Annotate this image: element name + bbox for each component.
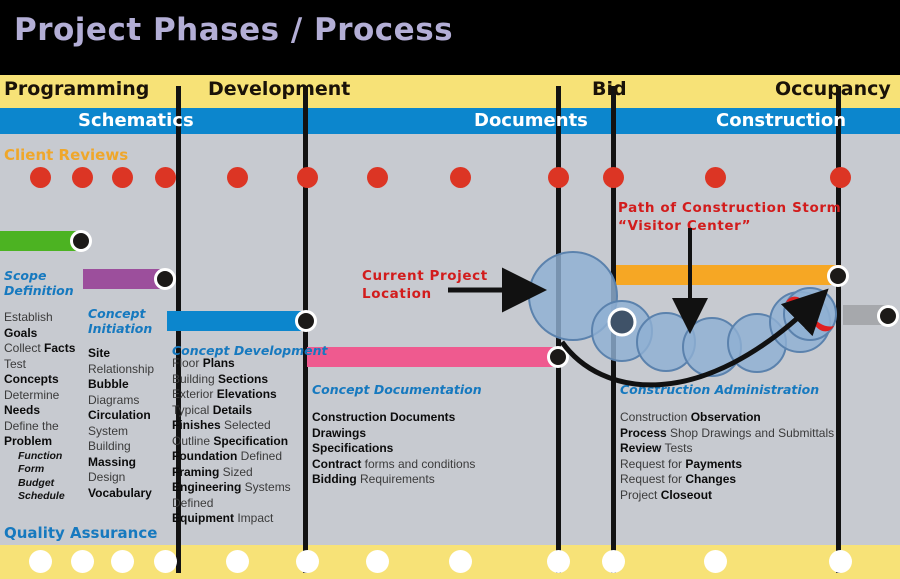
milestone-scope-definition-end — [70, 230, 92, 252]
title-bar: Project Phases / Process — [0, 0, 900, 75]
column-item: Concepts — [4, 372, 75, 388]
column-item: Building Sections — [172, 372, 291, 388]
column-subitem: Schedule — [18, 490, 75, 504]
quality-assurance-dot-11 — [704, 550, 727, 573]
column-item: Equipment Impact — [172, 511, 291, 527]
column-item: Needs — [4, 403, 75, 419]
column-heading-construction-administration: Construction Administration — [620, 382, 819, 397]
column-heading-concept-initiation: Concept Initiation — [88, 306, 152, 336]
column-item: Construction Documents — [312, 410, 475, 426]
column-item: Defined — [172, 496, 291, 512]
quality-assurance-label: Quality Assurance — [4, 524, 157, 542]
column-subitem: Function — [18, 450, 75, 464]
subphase-label-documents: Documents — [474, 110, 588, 131]
column-item: Determine — [4, 388, 75, 404]
column-item: System — [88, 424, 154, 440]
milestone-occupancy-end — [877, 305, 899, 327]
column-item: Building — [88, 439, 154, 455]
column-item: Construction Observation — [620, 410, 834, 426]
column-body-concept-documentation: Construction DocumentsDrawingsSpecificat… — [312, 410, 475, 488]
quality-assurance-dot-7 — [366, 550, 389, 573]
bar-concept-development — [167, 311, 307, 331]
phase-label-bid: Bid — [592, 78, 627, 100]
timeline-rule-5 — [836, 86, 841, 573]
subphase-label-schematics: Schematics — [78, 110, 194, 131]
client-review-dot-3 — [112, 167, 133, 188]
client-review-dot-12 — [830, 167, 851, 188]
milestone-concept-documentation-end — [547, 346, 569, 368]
column-item: Process Shop Drawings and Submittals — [620, 426, 834, 442]
column-item: Outline Specification — [172, 434, 291, 450]
column-item: Define the — [4, 419, 75, 435]
column-item: Relationship — [88, 362, 154, 378]
column-body-scope-definition: EstablishGoalsCollect FactsTestConceptsD… — [4, 310, 75, 504]
client-review-dot-6 — [297, 167, 318, 188]
column-item: Problem — [4, 434, 75, 450]
column-heading-concept-documentation: Concept Documentation — [312, 382, 482, 397]
column-item: Drawings — [312, 426, 475, 442]
column-body-construction-administration: Construction ObservationProcess Shop Dra… — [620, 410, 834, 503]
quality-assurance-dot-12 — [829, 550, 852, 573]
column-item: Massing — [88, 455, 154, 471]
column-item: Engineering Systems — [172, 480, 291, 496]
client-review-dot-5 — [227, 167, 248, 188]
milestone-concept-development-end — [295, 310, 317, 332]
project-phases-diagram: Project Phases / Process ProgrammingDeve… — [0, 0, 900, 579]
column-item: Collect Facts — [4, 341, 75, 357]
column-body-concept-development: Floor PlansBuilding SectionsExterior Ele… — [172, 356, 291, 527]
milestone-concept-initiation-end — [154, 268, 176, 290]
quality-assurance-dot-9 — [547, 550, 570, 573]
subphase-label-construction: Construction — [716, 110, 846, 131]
quality-assurance-dot-5 — [226, 550, 249, 573]
column-item: Diagrams — [88, 393, 154, 409]
column-item: Framing Sized — [172, 465, 291, 481]
bar-concept-documentation — [307, 347, 562, 367]
column-item: Establish — [4, 310, 75, 326]
column-item: Circulation — [88, 408, 154, 424]
annotation-path-of-construction-storm: Path of Construction Storm “Visitor Cent… — [618, 199, 841, 235]
phase-label-development: Development — [208, 78, 350, 100]
column-item: Floor Plans — [172, 356, 291, 372]
column-item: Typical Details — [172, 403, 291, 419]
client-review-dot-10 — [603, 167, 624, 188]
column-subitem: Budget — [18, 477, 75, 491]
column-item: Vocabulary — [88, 486, 154, 502]
column-item: Foundation Defined — [172, 449, 291, 465]
column-item: Site — [88, 346, 154, 362]
bar-construction-admin — [616, 265, 841, 285]
client-review-dot-1 — [30, 167, 51, 188]
quality-assurance-dot-8 — [449, 550, 472, 573]
client-review-dot-11 — [705, 167, 726, 188]
client-reviews-label: Client Reviews — [4, 146, 128, 164]
column-item: Bubble — [88, 377, 154, 393]
client-review-dot-2 — [72, 167, 93, 188]
column-item: Request for Payments — [620, 457, 834, 473]
column-heading-scope-definition: Scope Definition — [4, 268, 74, 298]
column-subitem: Form — [18, 463, 75, 477]
quality-assurance-dot-3 — [111, 550, 134, 573]
column-item: Finishes Selected — [172, 418, 291, 434]
phase-label-occupancy: Occupancy — [775, 78, 891, 100]
timeline-rule-3 — [556, 86, 561, 573]
quality-assurance-dot-10 — [602, 550, 625, 573]
quality-assurance-dot-2 — [71, 550, 94, 573]
column-item: Specifications — [312, 441, 475, 457]
quality-assurance-dot-6 — [296, 550, 319, 573]
page-title: Project Phases / Process — [14, 12, 453, 48]
column-item: Test — [4, 357, 75, 373]
client-review-dot-8 — [450, 167, 471, 188]
client-review-dot-4 — [155, 167, 176, 188]
phase-label-programming: Programming — [4, 78, 149, 100]
column-item: Review Tests — [620, 441, 834, 457]
column-body-concept-initiation: SiteRelationshipBubbleDiagramsCirculatio… — [88, 346, 154, 501]
column-item: Project Closeout — [620, 488, 834, 504]
quality-assurance-dot-4 — [154, 550, 177, 573]
client-review-dot-7 — [367, 167, 388, 188]
column-item: Goals — [4, 326, 75, 342]
annotation-current-project-location: Current Project Location — [362, 267, 488, 303]
timeline-rule-4 — [611, 86, 616, 573]
column-item: Request for Changes — [620, 472, 834, 488]
milestone-construction-admin-end — [827, 265, 849, 287]
column-item: Exterior Elevations — [172, 387, 291, 403]
column-item: Design — [88, 470, 154, 486]
column-item: Bidding Requirements — [312, 472, 475, 488]
client-review-dot-9 — [548, 167, 569, 188]
column-item: Contract forms and conditions — [312, 457, 475, 473]
quality-assurance-dot-1 — [29, 550, 52, 573]
